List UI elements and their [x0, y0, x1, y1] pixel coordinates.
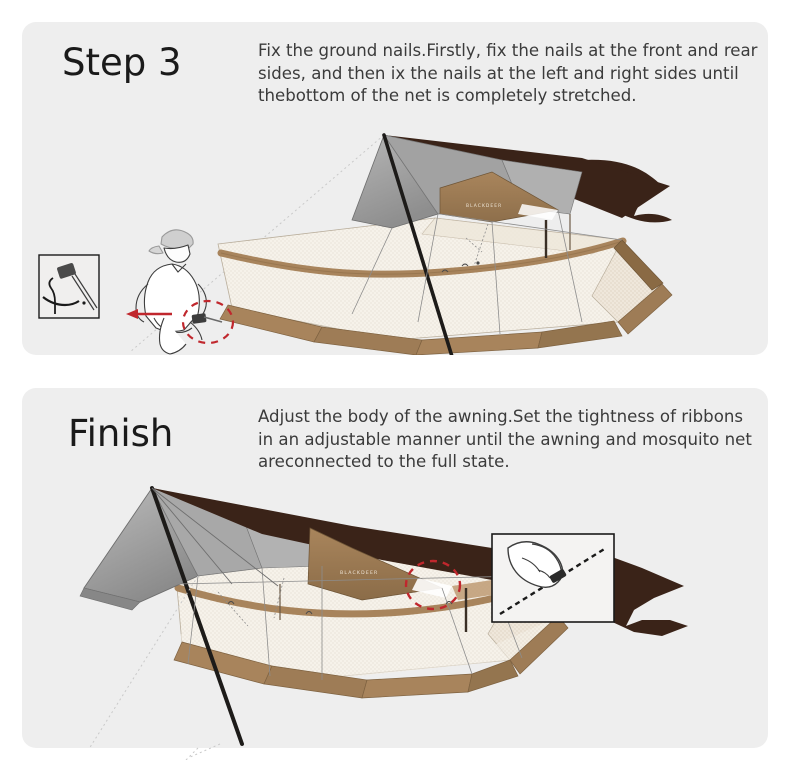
awning-tarp [152, 488, 688, 636]
step-card-finish: BLACKDEER [22, 388, 768, 748]
brand-text: BLACKDEER [466, 203, 502, 209]
brand-text: BLACKDEER [340, 570, 378, 576]
step-description-finish: Adjust the body of the awning.Set the ti… [258, 406, 758, 474]
guy-lines [352, 210, 622, 334]
page-title-finish: Finish [68, 415, 173, 452]
ground-skirt [220, 240, 672, 355]
ribbon-adjusters [228, 602, 452, 615]
mallet-in-hand [192, 313, 222, 324]
red-dashed-circle-highlight [406, 561, 460, 609]
step3-clip: BLACKDEER [22, 22, 768, 355]
canopy-gable: BLACKDEER [440, 172, 558, 222]
ground-skirt [174, 574, 568, 698]
tarp-underside [80, 488, 322, 610]
canopy-gable: BLACKDEER [308, 528, 498, 600]
guy-lines [178, 566, 522, 680]
red-direction-arrow [126, 309, 172, 319]
hammer-and-ground-nail-inset [39, 255, 99, 318]
main-pole [152, 488, 242, 744]
page-title-step3: Step 3 [62, 44, 182, 81]
finish-clip: BLACKDEER [22, 388, 768, 748]
tarp-underside [352, 135, 582, 228]
step-description-step3: Fix the ground nails.Firstly, fix the na… [258, 40, 758, 108]
main-pole [384, 135, 454, 355]
ribbon-band [178, 578, 558, 614]
step-card-step3: BLACKDEER [22, 22, 768, 355]
mosquito-net-body [176, 556, 558, 680]
ribbon-adjusters [442, 261, 480, 272]
person-figure [136, 230, 206, 354]
red-dashed-circle-highlight [183, 301, 233, 343]
red-direction-arrow [492, 576, 588, 592]
mosquito-net-body [218, 218, 662, 340]
instruction-page: BLACKDEER [0, 0, 790, 760]
awning-tarp [384, 135, 672, 222]
hand-adjusting-ribbon-inset [492, 534, 614, 622]
